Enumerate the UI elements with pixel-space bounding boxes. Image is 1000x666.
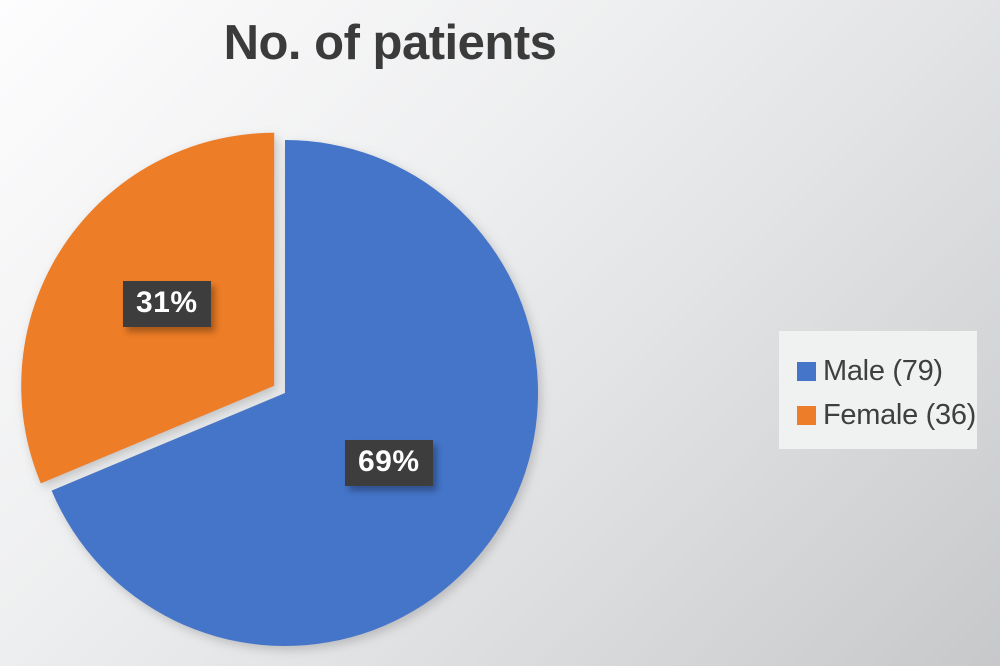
chart-slide: No. of patients 31% 69% Male (79) Female…: [0, 0, 1000, 666]
data-label-female-percent: 31%: [123, 281, 211, 327]
legend-label-female: Female (36): [823, 401, 976, 430]
pie-chart-plot-area: [0, 96, 600, 666]
data-label-male-percent: 69%: [345, 440, 433, 486]
legend-item-female[interactable]: Female (36): [797, 393, 977, 437]
legend-swatch-female-icon: [797, 406, 816, 425]
legend-swatch-male-icon: [797, 362, 816, 381]
chart-title: No. of patients: [0, 18, 780, 69]
legend-label-male: Male (79): [823, 357, 943, 386]
chart-legend: Male (79) Female (36): [779, 331, 977, 449]
legend-item-male[interactable]: Male (79): [797, 349, 977, 393]
pie-chart-svg: [0, 96, 600, 666]
